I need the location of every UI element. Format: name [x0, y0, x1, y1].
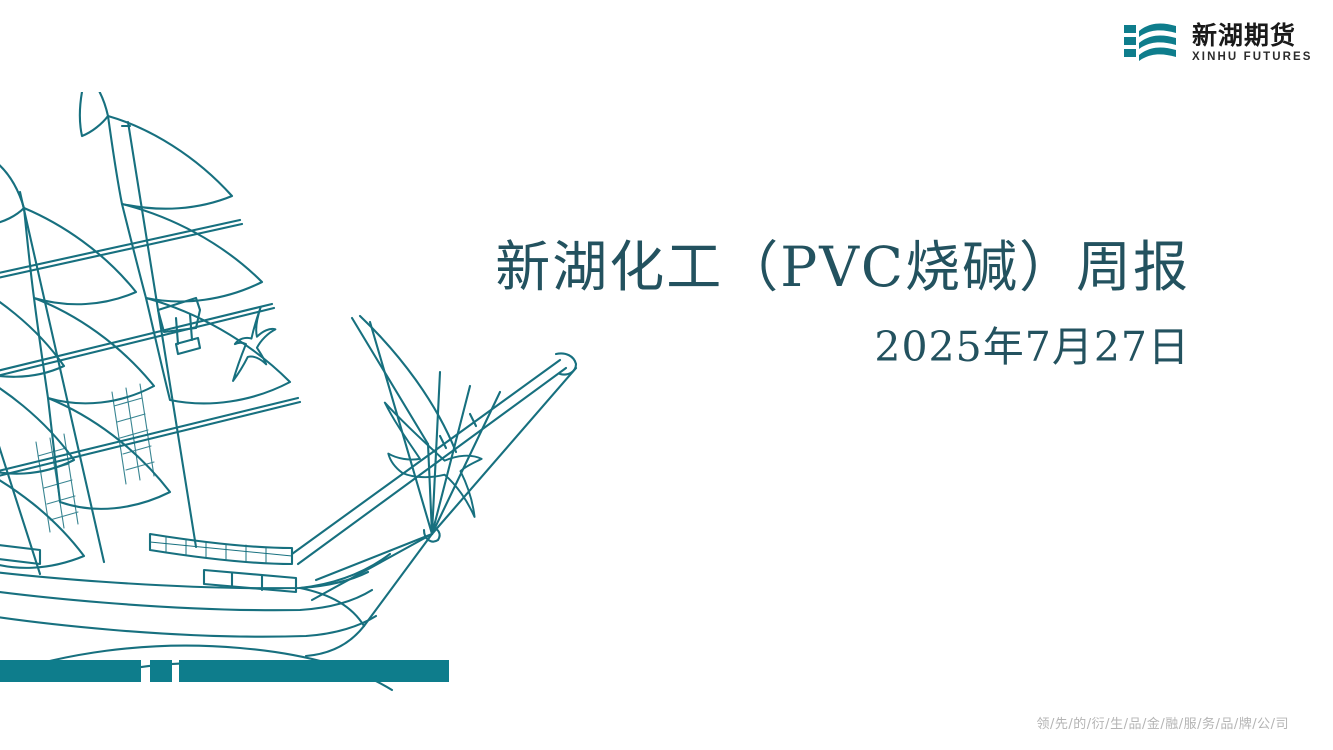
report-date: 2025年7月27日	[460, 313, 1190, 373]
presentation-slide: 新湖期货 XINHU FUTURES	[0, 0, 1333, 750]
bottom-accent-bar	[0, 660, 1333, 682]
page-title: 新湖化工（PVC烧碱）周报	[460, 236, 1190, 299]
accent-bar-segment-3	[179, 660, 449, 682]
accent-bar-segment-2	[150, 660, 172, 682]
footer-tagline: 领/先/的/衍/生/品/金/融/服/务/品/牌/公/司	[1037, 713, 1289, 732]
accent-bar-segment-1	[0, 660, 141, 682]
xinhu-wave-mark-icon	[1124, 22, 1180, 64]
seagull-small-icon	[233, 307, 275, 381]
logo-company-name-en: XINHU FUTURES	[1192, 52, 1313, 64]
logo-company-name-cn: 新湖期货	[1192, 23, 1313, 48]
title-block: 新湖化工（PVC烧碱）周报 2025年7月27日	[460, 236, 1190, 373]
company-logo: 新湖期货 XINHU FUTURES	[1124, 22, 1313, 64]
logo-wordmark: 新湖期货 XINHU FUTURES	[1192, 23, 1313, 64]
sailing-ship-line-art	[0, 92, 620, 692]
